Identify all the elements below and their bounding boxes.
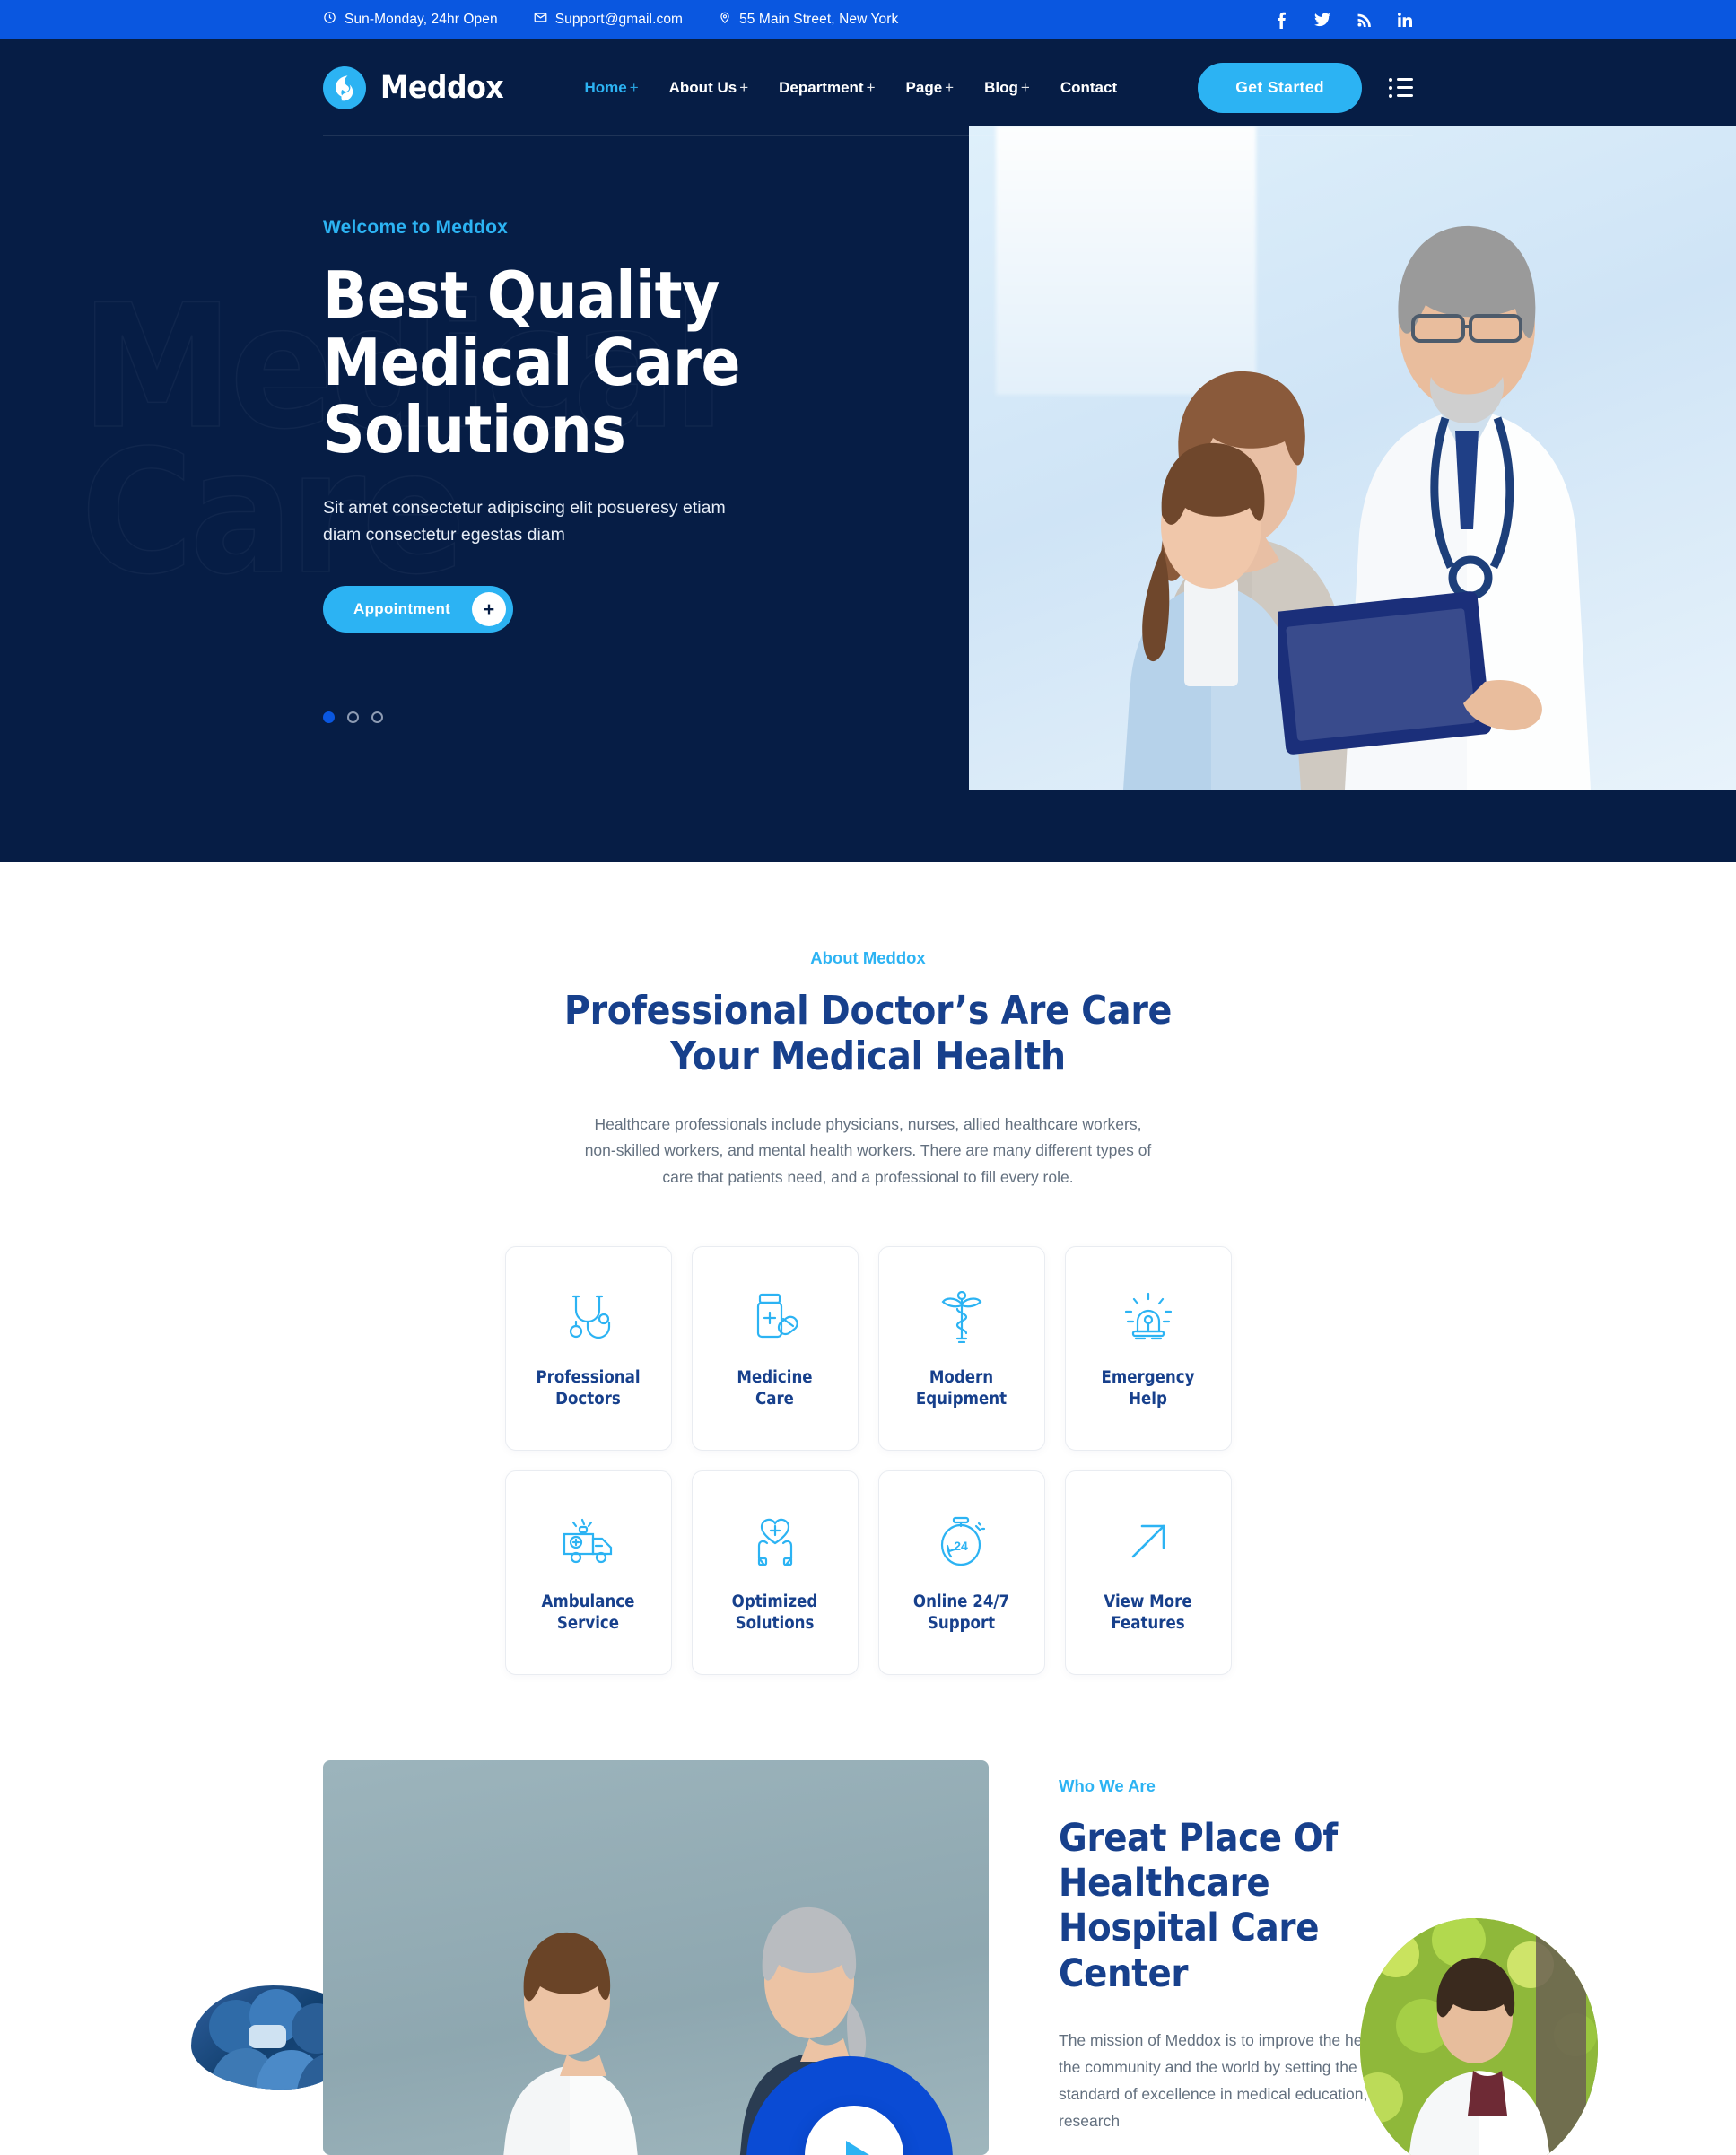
hero-title-line3: Solutions [323, 397, 825, 464]
nav-item-home-caret: + [630, 79, 639, 96]
nav-item-about-us[interactable]: About Us+ [669, 79, 748, 97]
who-person-1-illustration [467, 1895, 673, 2155]
hero-slider-dots [323, 711, 825, 723]
feature-label-line1: Emergency [1102, 1367, 1195, 1389]
feature-card-label: Optimized Solutions [732, 1592, 818, 1634]
feature-card-label: View More Features [1104, 1592, 1191, 1634]
emergency-light-icon [1123, 1287, 1173, 1348]
feature-card-label: Modern Equipment [916, 1367, 1007, 1409]
meddox-logo-icon [323, 66, 366, 109]
topbar-contact-group: Sun-Monday, 24hr Open Support@gmail.com … [323, 11, 898, 29]
feature-label-line2: Doctors [536, 1389, 640, 1410]
feature-card-online-support[interactable]: 24 Online 24/7 Support [878, 1470, 1045, 1675]
feature-card-label: Professional Doctors [536, 1367, 640, 1409]
stopwatch-24-icon: 24 [938, 1511, 986, 1572]
feature-label-line1: Modern [916, 1367, 1007, 1389]
nav-actions: Get Started [1198, 63, 1413, 113]
feature-card-label: Ambulance Service [542, 1592, 635, 1634]
rss-icon[interactable] [1356, 11, 1372, 29]
about-title: Professional Doctor’s Are Care Your Medi… [554, 988, 1182, 1079]
topbar-email-text: Support@gmail.com [555, 12, 683, 28]
nav-item-home[interactable]: Home+ [584, 79, 638, 97]
about-header: About Meddox Professional Doctor’s Are C… [554, 948, 1182, 1079]
ambulance-icon [561, 1511, 616, 1572]
nav-item-page-caret: + [945, 79, 954, 96]
feature-card-optimized-solutions[interactable]: Optimized Solutions [692, 1470, 859, 1675]
nav-item-page[interactable]: Page+ [906, 79, 955, 97]
slider-dot-3[interactable] [371, 711, 383, 723]
nav-item-blog-caret: + [1021, 79, 1030, 96]
nav-item-department[interactable]: Department+ [779, 79, 875, 97]
play-icon [846, 2141, 869, 2155]
nav-item-department-label: Department [779, 79, 863, 96]
about-section: About Meddox Professional Doctor’s Are C… [0, 862, 1736, 1675]
hero-title-line2: Medical Care [323, 329, 825, 397]
slider-dot-2[interactable] [347, 711, 359, 723]
page-root: Sun-Monday, 24hr Open Support@gmail.com … [0, 0, 1736, 2155]
topbar-address: 55 Main Street, New York [719, 11, 898, 29]
hero-title-line1: Best Quality [323, 262, 825, 329]
nav-item-about-us-caret: + [739, 79, 748, 96]
topbar-hours: Sun-Monday, 24hr Open [323, 11, 498, 29]
about-title-line2: Your Medical Health [554, 1034, 1182, 1079]
about-eyebrow: About Meddox [554, 948, 1182, 968]
feature-card-label: Medicine Care [737, 1367, 812, 1409]
who-title-line2: Hospital Care Center [1059, 1906, 1413, 1996]
who-eyebrow: Who We Are [1059, 1776, 1413, 1796]
feature-card-view-more[interactable]: View More Features [1065, 1470, 1232, 1675]
feature-label-line2: Features [1104, 1613, 1191, 1635]
about-description: Healthcare professionals include physici… [581, 1112, 1156, 1191]
feature-card-label: Emergency Help [1102, 1367, 1195, 1409]
plus-icon: + [472, 592, 506, 626]
hero-text-block: Welcome to Meddox Best Quality Medical C… [323, 136, 825, 862]
svg-text:24: 24 [954, 1539, 968, 1553]
hero-description: Sit amet consectetur adipiscing elit pos… [323, 494, 727, 548]
feature-card-professional-doctors[interactable]: Professional Doctors [505, 1246, 672, 1451]
feature-label-line1: Ambulance [542, 1592, 635, 1613]
topbar-address-text: 55 Main Street, New York [739, 12, 898, 28]
nav-item-department-caret: + [867, 79, 876, 96]
hero-photo [969, 126, 1736, 790]
feature-label-line2: Support [913, 1613, 1009, 1635]
medicine-bottle-icon [751, 1287, 799, 1348]
feature-label-line2: Service [542, 1613, 635, 1635]
twitter-icon[interactable] [1314, 11, 1330, 29]
feature-card-ambulance-service[interactable]: Ambulance Service [505, 1470, 672, 1675]
appointment-button-label: Appointment [353, 600, 450, 618]
nav-item-about-us-label: About Us [669, 79, 737, 96]
arrow-up-right-icon [1126, 1511, 1171, 1572]
slider-dot-1[interactable] [323, 711, 335, 723]
hero-eyebrow: Welcome to Meddox [323, 217, 825, 239]
feature-label-line2: Solutions [732, 1613, 818, 1635]
envelope-icon [534, 11, 547, 29]
topbar-hours-text: Sun-Monday, 24hr Open [345, 12, 498, 28]
hero-title: Best Quality Medical Care Solutions [323, 262, 825, 464]
nav-item-contact[interactable]: Contact [1060, 79, 1117, 97]
nav-item-blog[interactable]: Blog+ [984, 79, 1030, 97]
appointment-button[interactable]: Appointment + [323, 586, 513, 633]
feature-label-line1: Medicine [737, 1367, 812, 1389]
feature-label-line2: Care [737, 1389, 812, 1410]
feature-label-line2: Equipment [916, 1389, 1007, 1410]
caduceus-icon [941, 1287, 982, 1348]
nav-item-contact-label: Contact [1060, 79, 1117, 96]
nav-item-page-label: Page [906, 79, 943, 96]
hero-section: Medical Care Meddox Home+ [0, 39, 1736, 862]
nav-menu: Home+ About Us+ Department+ Page+ Blog+ [584, 79, 1117, 97]
topbar: Sun-Monday, 24hr Open Support@gmail.com … [0, 0, 1736, 39]
nav-item-blog-label: Blog [984, 79, 1018, 96]
who-text-block: Who We Are Great Place Of Healthcare Hos… [1059, 1760, 1413, 2135]
feature-card-emergency-help[interactable]: Emergency Help [1065, 1246, 1232, 1451]
main-navigation: Meddox Home+ About Us+ Department+ Page+ [0, 39, 1736, 136]
linkedin-icon[interactable] [1397, 11, 1413, 29]
feature-label-line1: Professional [536, 1367, 640, 1389]
hero-photo-doctor [1278, 215, 1655, 790]
clock-icon [323, 11, 336, 29]
topbar-social-group [1273, 11, 1413, 29]
facebook-icon[interactable] [1273, 11, 1289, 29]
feature-card-grid: Professional Doctors Medicine Ca [505, 1246, 1232, 1675]
who-video-thumbnail[interactable] [323, 1760, 989, 2155]
heart-hands-icon [749, 1511, 801, 1572]
stethoscope-icon [565, 1287, 612, 1348]
feature-label-line1: View More [1104, 1592, 1191, 1613]
hamburger-menu-icon[interactable] [1389, 78, 1413, 98]
about-title-line1: Professional Doctor’s Are Care [554, 988, 1182, 1034]
location-pin-icon [719, 11, 731, 29]
feature-label-line2: Help [1102, 1389, 1195, 1410]
feature-card-label: Online 24/7 Support [913, 1592, 1009, 1634]
feature-label-line1: Optimized [732, 1592, 818, 1613]
feature-card-medicine-care[interactable]: Medicine Care [692, 1246, 859, 1451]
brand-logo[interactable]: Meddox [323, 66, 503, 109]
hero-body: Welcome to Meddox Best Quality Medical C… [0, 136, 1736, 862]
feature-label-line1: Online 24/7 [913, 1592, 1009, 1613]
get-started-button[interactable]: Get Started [1198, 63, 1362, 113]
who-title-line1: Great Place Of Healthcare [1059, 1816, 1413, 1906]
topbar-email[interactable]: Support@gmail.com [534, 11, 683, 29]
nav-item-home-label: Home [584, 79, 626, 96]
who-title: Great Place Of Healthcare Hospital Care … [1059, 1816, 1413, 1996]
brand-name: Meddox [380, 70, 503, 106]
feature-card-modern-equipment[interactable]: Modern Equipment [878, 1246, 1045, 1451]
